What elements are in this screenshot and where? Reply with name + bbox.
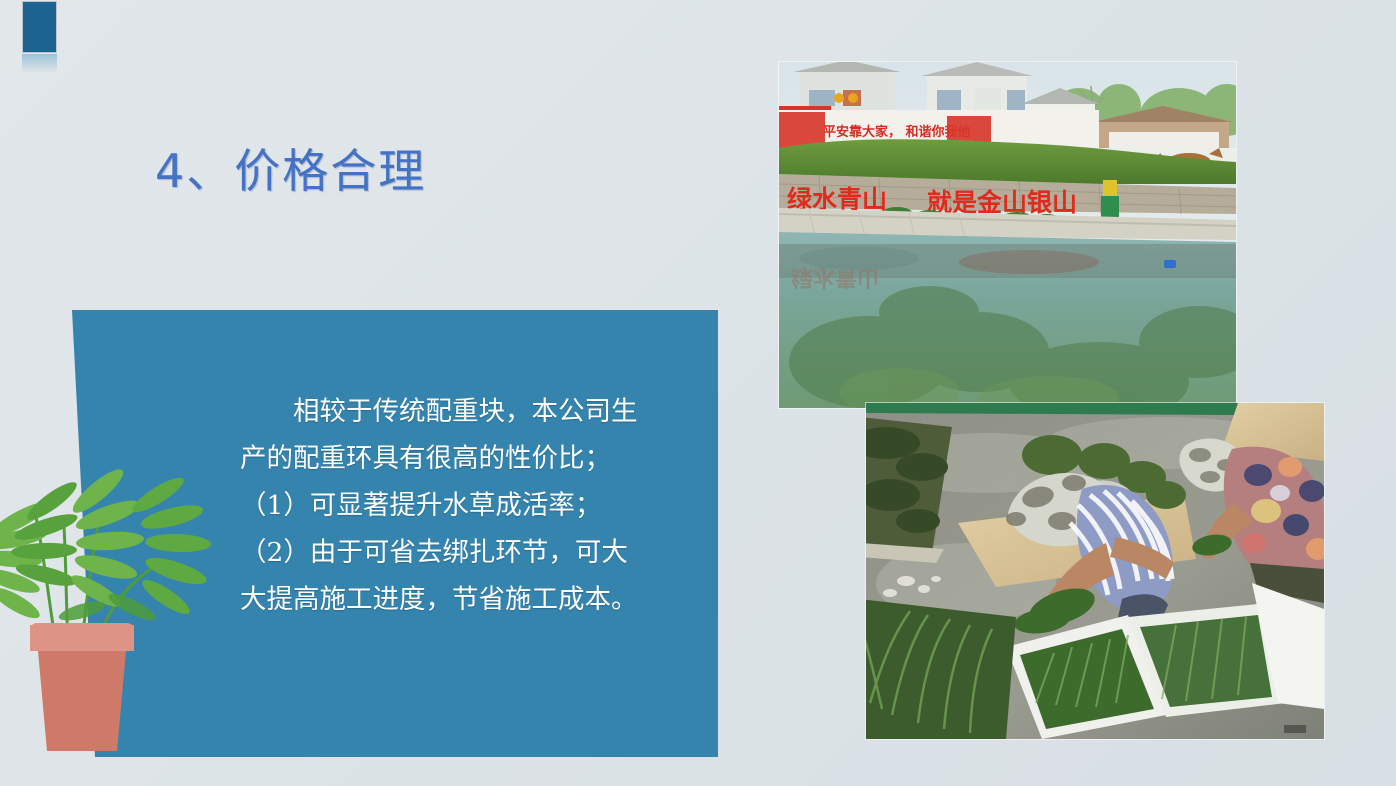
- page-title: 4、价格合理: [155, 142, 426, 200]
- slide-canvas: 4、价格合理 相较于传统配重块，本公司生产的配重环具有很高的性价比； （1）可显…: [0, 0, 1396, 786]
- logo-mark: [22, 1, 57, 73]
- logo-bar-icon: [22, 1, 57, 53]
- body-paragraph: 相较于传统配重块，本公司生产的配重环具有很高的性价比； （1）可显著提升水草成活…: [240, 388, 640, 623]
- photo-village: 平安靠大家， 和谐你我他: [779, 62, 1236, 408]
- potted-palm-illustration: [0, 435, 226, 765]
- photo-planting: [866, 403, 1324, 739]
- logo-reflection-icon: [22, 54, 57, 73]
